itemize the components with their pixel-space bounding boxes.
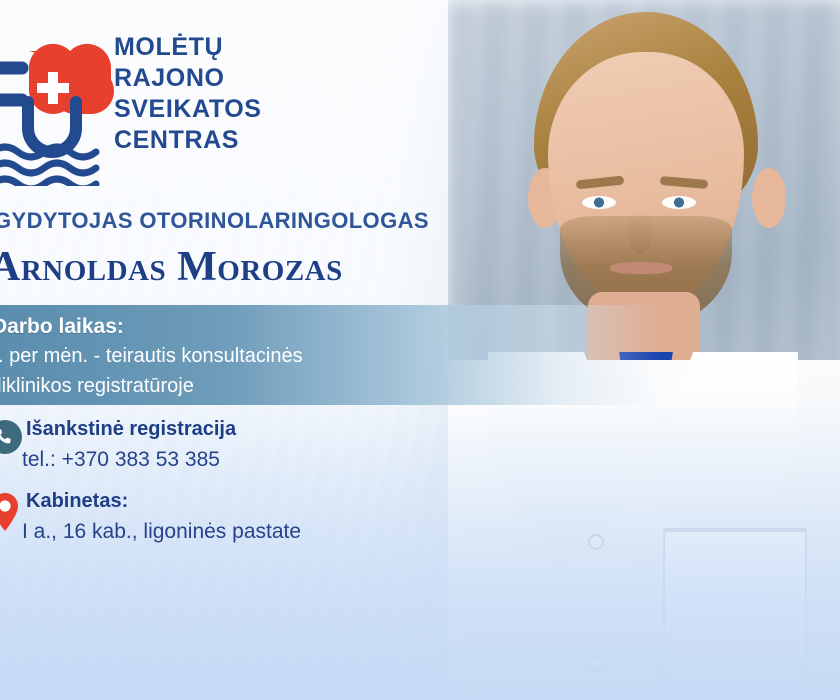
doctor-info-card: MOLĖTŲ RAJONO SVEIKATOS CENTRAS GYDYTOJA… (0, 0, 840, 700)
heart-cross-water-logo-icon (0, 28, 114, 186)
clinic-name: MOLĖTŲ RAJONO SVEIKATOS CENTRAS (114, 32, 262, 156)
lips (610, 262, 672, 274)
map-pin-icon (0, 492, 22, 526)
phone-number[interactable]: tel.: +370 383 53 385 (22, 448, 220, 472)
phone-icon (0, 420, 22, 454)
coat-snap-upper (588, 534, 604, 550)
clinic-name-line-4: CENTRAS (114, 125, 262, 156)
room-location: I a., 16 kab., ligoninės pastate (22, 520, 301, 544)
working-hours-line-1: k. per mėn. - teirautis konsultacinės (0, 345, 303, 368)
ear-right (752, 168, 786, 228)
working-hours-line-2: oliklinikos registratūroje (0, 375, 194, 398)
clinic-logo: MOLĖTŲ RAJONO SVEIKATOS CENTRAS (0, 28, 296, 188)
coat-pocket (663, 528, 807, 689)
working-hours-banner: Darbo laikas: k. per mėn. - teirautis ko… (0, 305, 660, 405)
clinic-name-line-2: RAJONO (114, 63, 262, 94)
eye-left (582, 196, 616, 209)
phone-title: Išankstinė registracija (26, 418, 236, 441)
clinic-name-line-3: SVEIKATOS (114, 94, 262, 125)
doctor-name: Arnoldas Morozas (0, 243, 343, 291)
clinic-name-line-1: MOLĖTŲ (114, 32, 262, 63)
coat-snap-lower (588, 656, 604, 672)
doctor-specialty: GYDYTOJAS OTORINOLARINGOLOGAS (0, 208, 429, 234)
room-title: Kabinetas: (26, 490, 128, 513)
working-hours-title: Darbo laikas: (0, 315, 124, 339)
eye-right (662, 196, 696, 209)
